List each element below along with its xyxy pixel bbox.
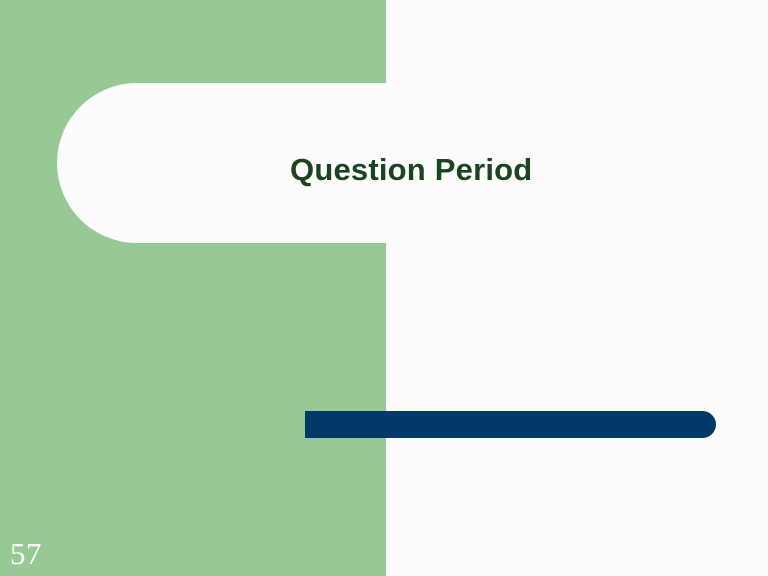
navy-accent-bar	[305, 411, 716, 438]
page-title: Question Period	[290, 148, 710, 192]
slide-number: 57	[10, 537, 42, 571]
presentation-slide: Question Period 57	[0, 0, 768, 576]
